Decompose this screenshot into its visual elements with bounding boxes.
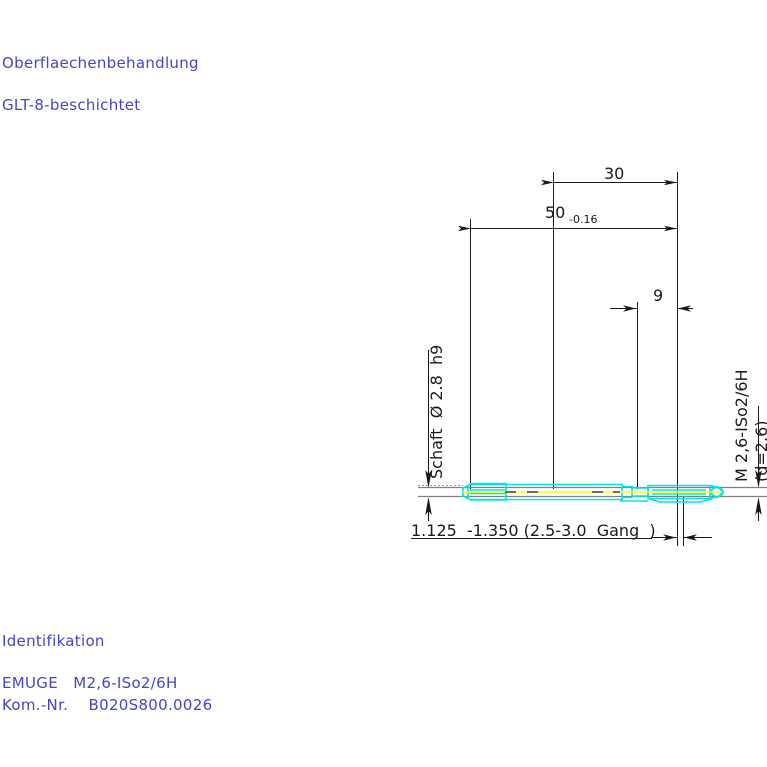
technical-drawing-page: Oberflaechenbehandlung GLT-8-beschichtet… <box>0 0 767 767</box>
thread-dimension-arrowheads <box>755 470 762 515</box>
drawing-geometry <box>0 0 767 767</box>
dimension-arrowheads-9 <box>623 305 697 541</box>
shank-dimension-arrowheads <box>425 470 432 515</box>
